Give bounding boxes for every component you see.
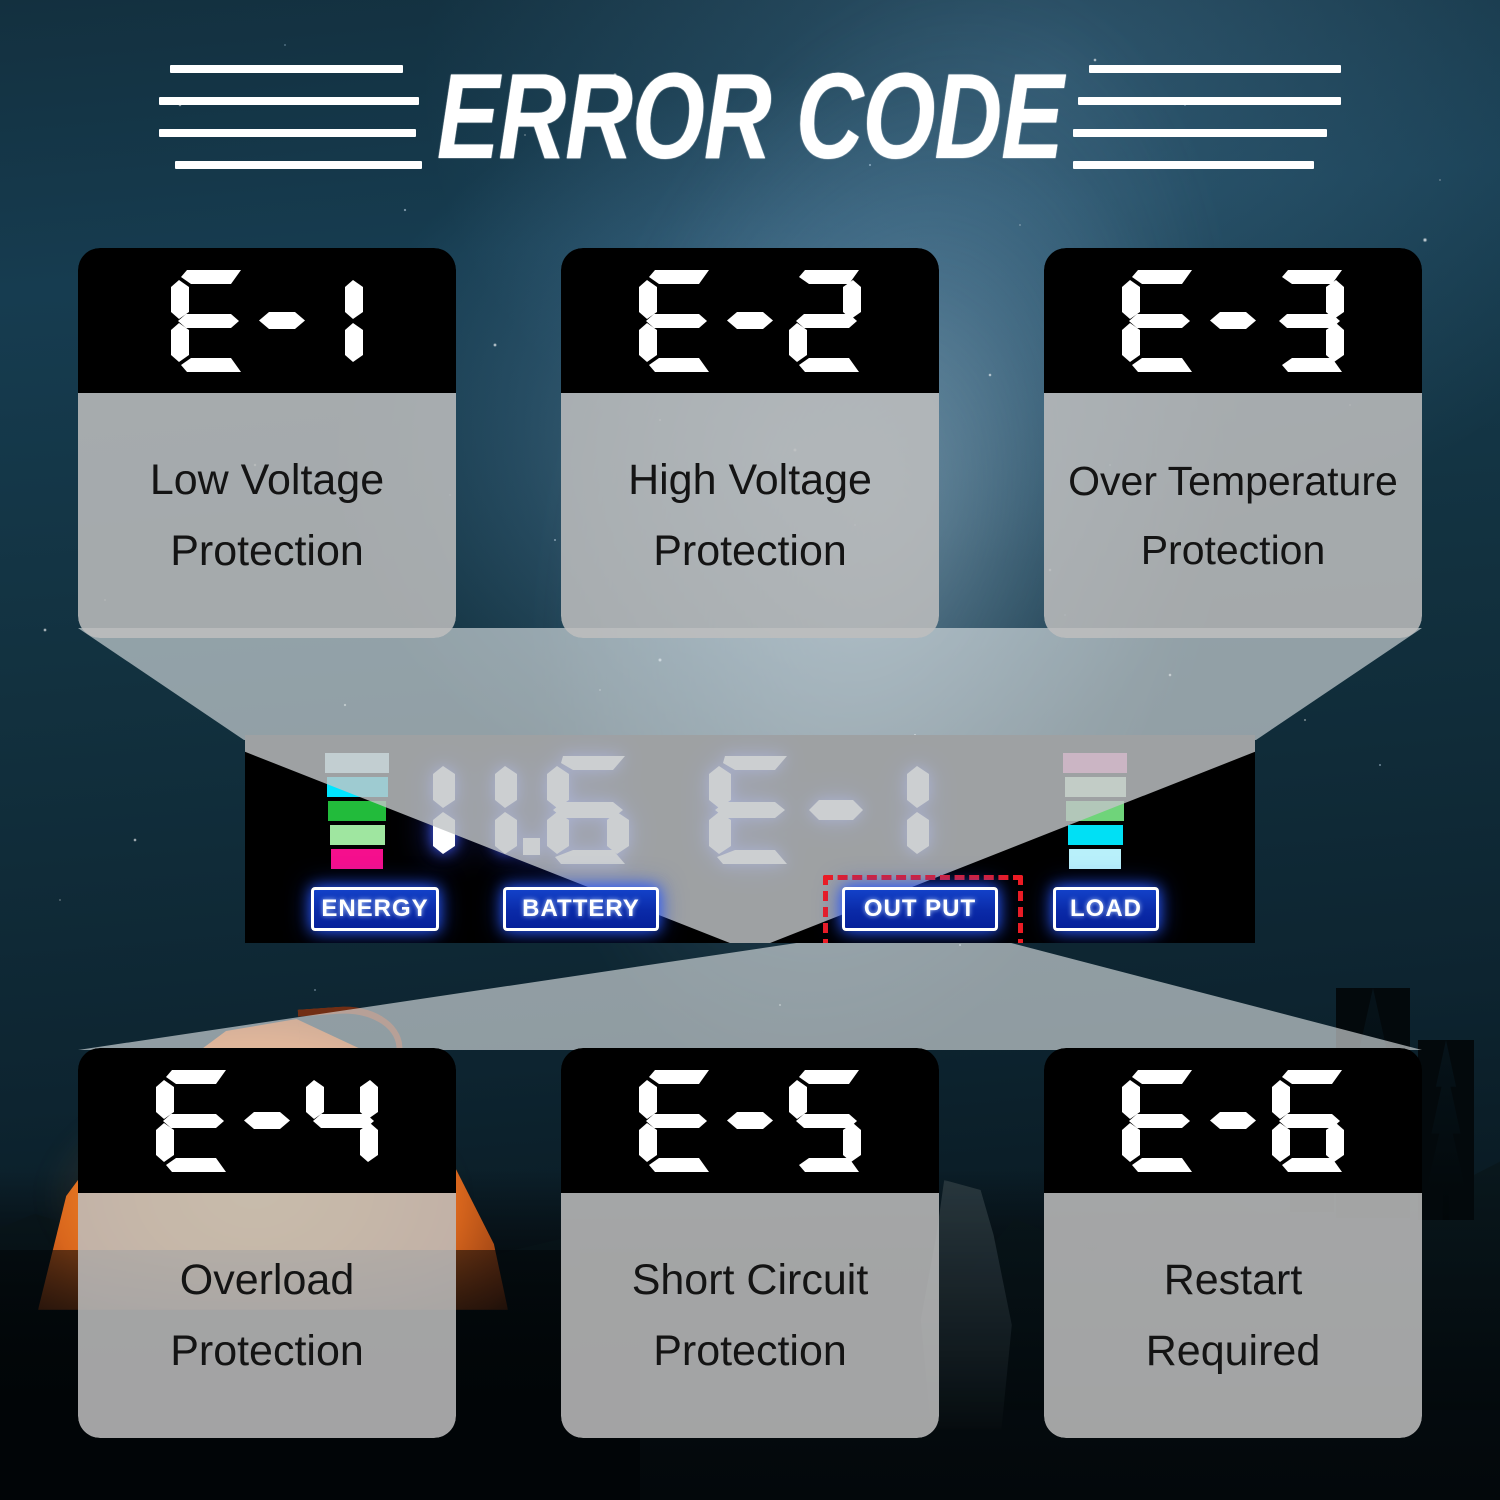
energy-bar-segment-5 <box>331 849 383 869</box>
error-card-code-display <box>1044 1048 1422 1193</box>
error-card-e-3[interactable]: Over Temperature Protection <box>1044 248 1422 638</box>
segment-char-dash <box>259 312 305 329</box>
error-card-text: Over Temperature Protection <box>1044 393 1422 638</box>
segment-char-dash <box>1210 1112 1256 1129</box>
seven-segment-code <box>169 266 365 376</box>
error-card-line2: Protection <box>170 1330 364 1373</box>
error-card-text: Low Voltage Protection <box>78 393 456 638</box>
error-card-e-6[interactable]: Restart Required <box>1044 1048 1422 1438</box>
error-card-text: Short Circuit Protection <box>561 1193 939 1438</box>
segment-char-2 <box>787 266 863 376</box>
badge-load[interactable]: LOAD <box>1053 887 1159 931</box>
segment-char-dash <box>727 312 773 329</box>
error-card-e-1[interactable]: Low Voltage Protection <box>78 248 456 638</box>
pine-tree-icon <box>1418 1040 1474 1220</box>
error-card-code-display <box>561 248 939 393</box>
load-bar-segment-4 <box>1068 825 1123 845</box>
energy-bar-segment-3 <box>328 801 386 821</box>
error-card-text: Overload Protection <box>78 1193 456 1438</box>
error-card-text: High Voltage Protection <box>561 393 939 638</box>
error-card-line1: High Voltage <box>628 459 872 502</box>
error-card-e-5[interactable]: Short Circuit Protection <box>561 1048 939 1438</box>
segment-char-1 <box>319 266 365 376</box>
segment-char-E <box>637 266 713 376</box>
segment-char-dash <box>244 1112 290 1129</box>
seven-segment-code <box>637 1066 863 1176</box>
error-card-e-2[interactable]: High Voltage Protection <box>561 248 939 638</box>
badge-battery[interactable]: BATTERY <box>503 887 659 931</box>
segment-char-E <box>637 1066 713 1176</box>
load-bar-segment-5 <box>1069 849 1121 869</box>
device-lcd-panel: ENERGY BATTERY OUT PUT LOAD <box>245 735 1255 943</box>
badge-energy[interactable]: ENERGY <box>311 887 439 931</box>
seven-segment-code <box>154 1066 380 1176</box>
segment-char-E <box>154 1066 230 1176</box>
seven-segment-code <box>637 266 863 376</box>
error-card-line1: Overload <box>180 1259 354 1302</box>
seven-segment-code <box>1120 1066 1346 1176</box>
segment-char-3 <box>1270 266 1346 376</box>
error-card-line1: Restart <box>1164 1259 1303 1302</box>
infographic-root: ERROR CODE <box>0 0 1500 1500</box>
segment-char-E <box>1120 1066 1196 1176</box>
error-card-code-display <box>1044 248 1422 393</box>
title-deco-lines-right <box>1073 65 1341 169</box>
error-card-text: Restart Required <box>1044 1193 1422 1438</box>
segment-char-4 <box>304 1066 380 1176</box>
error-card-code-display <box>78 248 456 393</box>
error-card-line1: Over Temperature <box>1068 461 1398 502</box>
segment-char-dash <box>1210 312 1256 329</box>
title-deco-lines-left <box>159 65 427 169</box>
segment-char-6 <box>1270 1066 1346 1176</box>
segment-char-E <box>1120 266 1196 376</box>
page-title-banner: ERROR CODE <box>0 58 1500 176</box>
error-card-code-display <box>561 1048 939 1193</box>
connector-ray-top <box>0 628 1500 740</box>
segment-char-5 <box>787 1066 863 1176</box>
segment-char-E <box>169 266 245 376</box>
error-card-line2: Protection <box>653 1330 847 1373</box>
error-card-line2: Required <box>1146 1330 1321 1373</box>
error-card-line2: Protection <box>170 530 364 573</box>
segment-char-dash <box>727 1112 773 1129</box>
page-title: ERROR CODE <box>421 56 1080 177</box>
error-card-line2: Protection <box>1141 530 1326 571</box>
energy-bar-segment-4 <box>330 825 385 845</box>
error-card-line2: Protection <box>653 530 847 573</box>
badge-output[interactable]: OUT PUT <box>842 887 998 931</box>
error-card-line1: Low Voltage <box>150 459 384 502</box>
error-card-code-display <box>78 1048 456 1193</box>
error-card-line1: Short Circuit <box>632 1259 869 1302</box>
seven-segment-code <box>1120 266 1346 376</box>
error-card-e-4[interactable]: Overload Protection <box>78 1048 456 1438</box>
